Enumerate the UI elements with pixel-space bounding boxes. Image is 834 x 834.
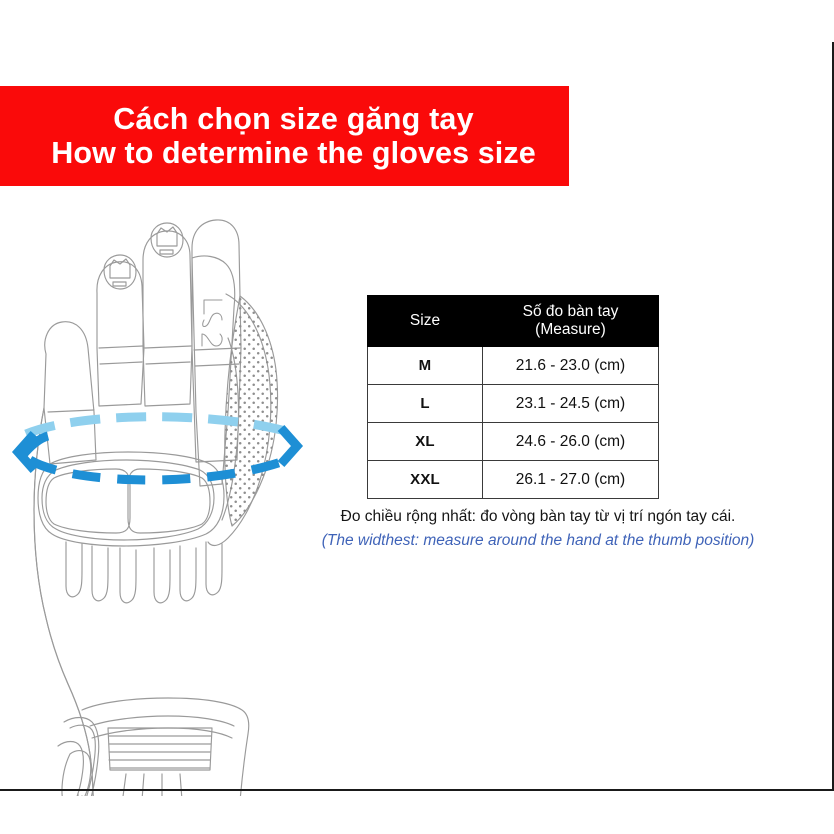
size-table: Size Số đo bàn tay (Measure) M 21.6 - 23…	[367, 295, 659, 499]
title-english: How to determine the gloves size	[51, 136, 536, 170]
measure-arrow-right	[281, 428, 297, 464]
cell-size: M	[368, 347, 483, 385]
size-table-head: Size Số đo bàn tay (Measure)	[368, 296, 659, 347]
cell-size: L	[368, 385, 483, 423]
table-row: L 23.1 - 24.5 (cm)	[368, 385, 659, 423]
title-vietnamese: Cách chọn size găng tay	[113, 102, 474, 136]
cell-size: XL	[368, 423, 483, 461]
column-header-size: Size	[368, 296, 483, 347]
size-chart-page: Cách chọn size găng tay How to determine…	[0, 0, 834, 834]
glove-drawing-svg	[4, 198, 324, 796]
table-row: M 21.6 - 23.0 (cm)	[368, 347, 659, 385]
caption-english: (The widthest: measure around the hand a…	[278, 529, 798, 553]
table-row: XL 24.6 - 26.0 (cm)	[368, 423, 659, 461]
cell-measure: 23.1 - 24.5 (cm)	[483, 385, 659, 423]
table-header-row: Size Số đo bàn tay (Measure)	[368, 296, 659, 347]
cell-measure: 26.1 - 27.0 (cm)	[483, 461, 659, 499]
glove-illustration	[4, 198, 324, 796]
column-header-measure-line2: (Measure)	[487, 321, 654, 339]
column-header-measure: Số đo bàn tay (Measure)	[483, 296, 659, 347]
cell-size: XXL	[368, 461, 483, 499]
measurement-caption: Đo chiều rộng nhất: đo vòng bàn tay từ v…	[278, 505, 798, 553]
size-table-body: M 21.6 - 23.0 (cm) L 23.1 - 24.5 (cm) XL…	[368, 347, 659, 499]
cell-measure: 24.6 - 26.0 (cm)	[483, 423, 659, 461]
title-banner: Cách chọn size găng tay How to determine…	[0, 86, 569, 186]
page-border-bottom	[0, 789, 834, 791]
column-header-measure-line1: Số đo bàn tay	[487, 303, 654, 321]
table-row: XXL 26.1 - 27.0 (cm)	[368, 461, 659, 499]
cell-measure: 21.6 - 23.0 (cm)	[483, 347, 659, 385]
caption-vietnamese: Đo chiều rộng nhất: đo vòng bàn tay từ v…	[278, 505, 798, 529]
